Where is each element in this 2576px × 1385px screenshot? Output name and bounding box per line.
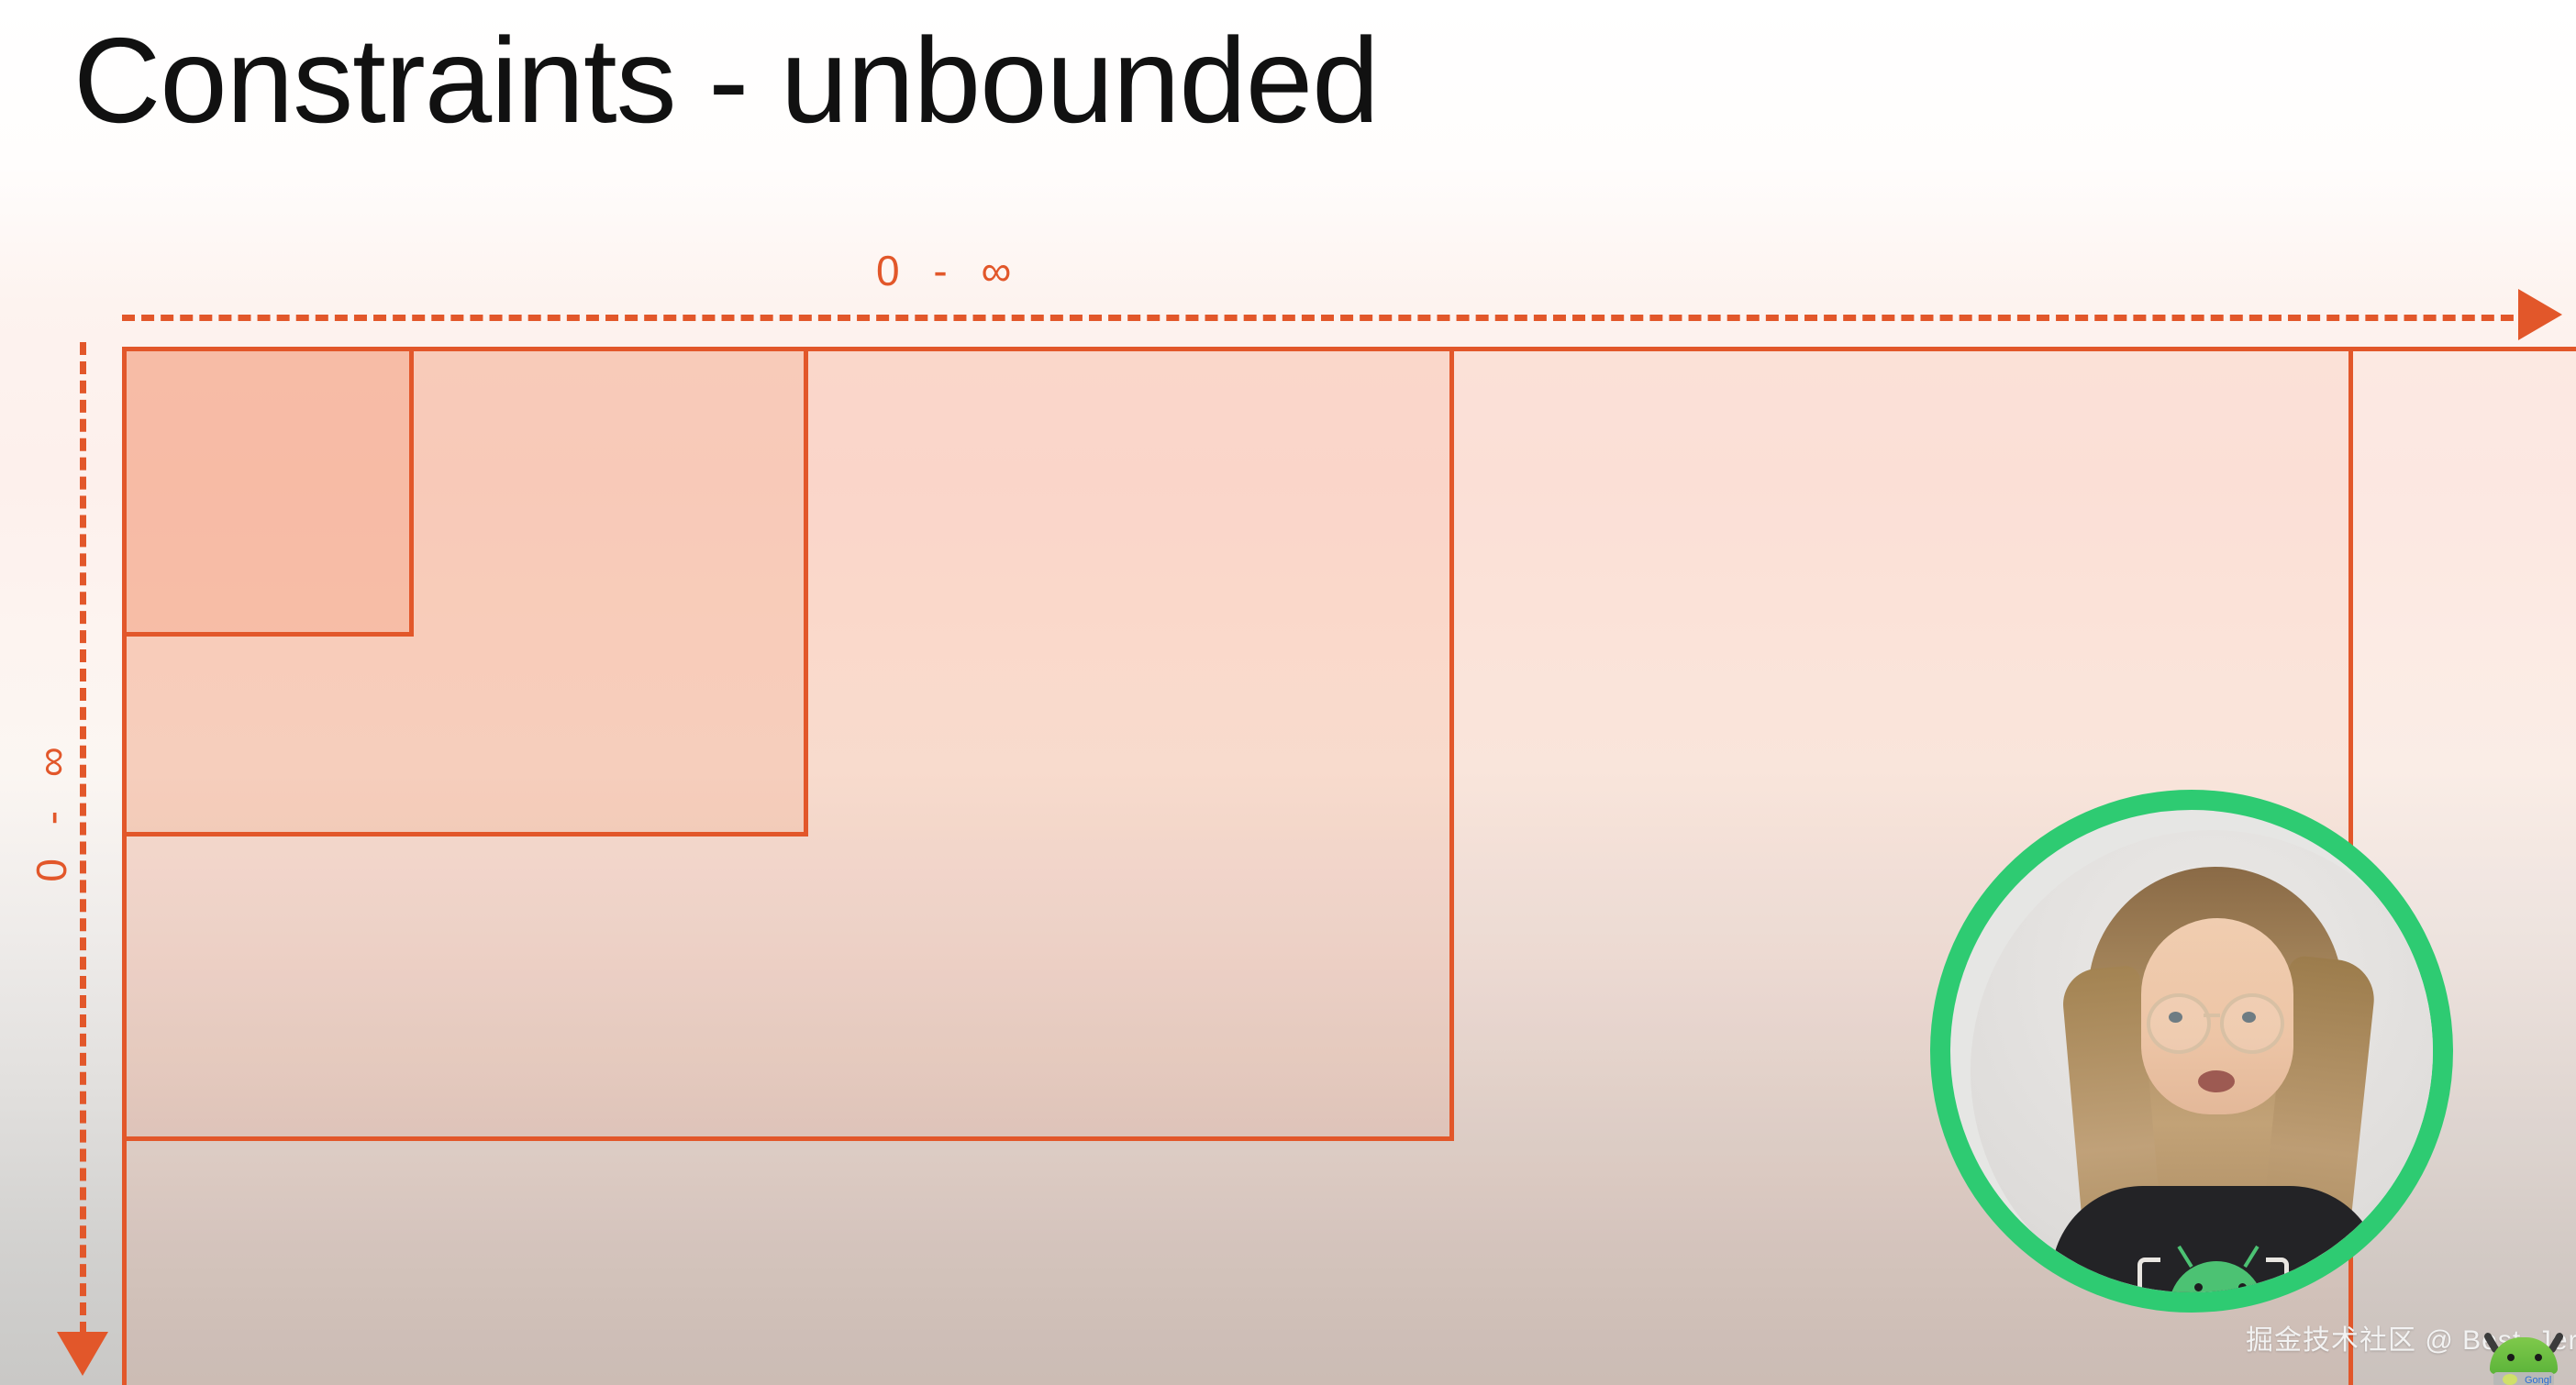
innermost-box [122, 347, 414, 637]
mascot-badge [2503, 1374, 2517, 1385]
glasses-right-lens [2220, 993, 2284, 1054]
presenter-mouth [2198, 1070, 2235, 1092]
mascot-badge-text: Gongl [2525, 1375, 2551, 1385]
vertical-arrow-icon [57, 1332, 108, 1376]
slide-canvas: Constraints - unbounded 0 - ∞ 0 - ∞ [0, 0, 2576, 1385]
presenter-video-feed [1971, 830, 2453, 1313]
shirt-android-eye-left [2194, 1283, 2203, 1291]
horizontal-dashed-line [122, 315, 2533, 321]
glasses-bridge [2204, 1014, 2220, 1017]
horizontal-arrow-icon [2518, 289, 2562, 340]
page-title: Constraints - unbounded [73, 20, 1379, 141]
mascot-head [2490, 1337, 2558, 1374]
mascot-eye-right [2535, 1354, 2542, 1361]
mascot-eye-left [2507, 1354, 2515, 1361]
vertical-range-label: 0 - ∞ [27, 717, 76, 901]
shirt-bracket-left-icon [2137, 1258, 2160, 1313]
android-mascot-icon: Gongl [2477, 1332, 2570, 1385]
glasses-left-lens [2147, 993, 2211, 1054]
horizontal-range-label: 0 - ∞ [876, 246, 1022, 295]
shirt-android-eye-right [2238, 1283, 2247, 1291]
vertical-dashed-line [80, 342, 86, 1335]
presenter-video-circle[interactable] [1930, 790, 2453, 1313]
